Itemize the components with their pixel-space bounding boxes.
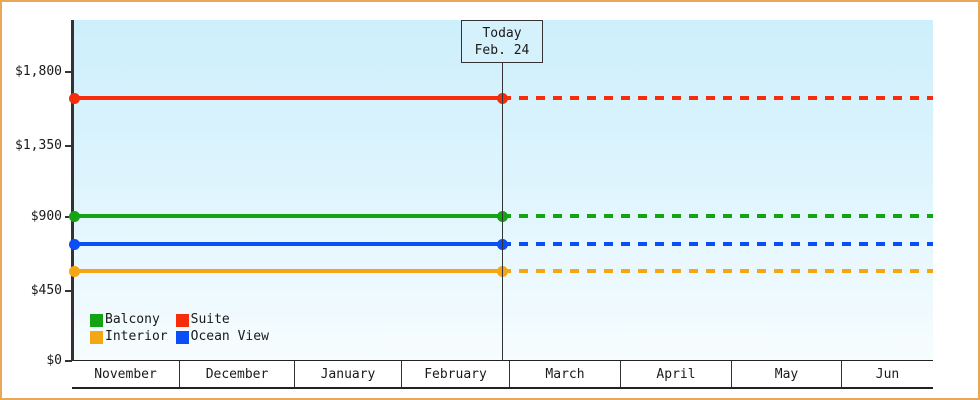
legend-swatch-icon bbox=[176, 331, 189, 344]
x-axis-month-cell[interactable]: April bbox=[621, 361, 732, 387]
series-line-actual bbox=[74, 242, 502, 246]
y-axis-tick bbox=[65, 71, 73, 73]
legend: BalconySuiteInteriorOcean View bbox=[90, 313, 269, 344]
x-axis-month-cell[interactable]: November bbox=[72, 361, 180, 387]
y-axis-label: $450 bbox=[2, 284, 62, 297]
legend-item[interactable]: Ocean View bbox=[176, 330, 269, 344]
legend-label: Ocean View bbox=[191, 330, 269, 344]
series-line-actual bbox=[74, 269, 502, 273]
series-marker-start bbox=[69, 211, 80, 222]
series-line-forecast bbox=[502, 96, 933, 100]
legend-label: Balcony bbox=[105, 313, 160, 327]
x-axis-month-band: NovemberDecemberJanuaryFebruaryMarchApri… bbox=[72, 361, 933, 389]
legend-item[interactable]: Balcony bbox=[90, 313, 168, 327]
y-axis-tick bbox=[65, 145, 73, 147]
x-axis-month-cell[interactable]: Jun bbox=[842, 361, 933, 387]
legend-item[interactable]: Suite bbox=[176, 313, 269, 327]
series-line-forecast bbox=[502, 269, 933, 273]
series-line-actual bbox=[74, 214, 502, 218]
today-vertical-line bbox=[502, 62, 503, 361]
legend-swatch-icon bbox=[90, 331, 103, 344]
legend-label: Interior bbox=[105, 330, 168, 344]
legend-item[interactable]: Interior bbox=[90, 330, 168, 344]
y-axis-label: $0 bbox=[2, 354, 62, 367]
legend-swatch-icon bbox=[90, 314, 103, 327]
series-marker-start bbox=[69, 266, 80, 277]
plot-area bbox=[74, 20, 933, 361]
x-axis-month-cell[interactable]: May bbox=[732, 361, 842, 387]
series-line-actual bbox=[74, 96, 502, 100]
series-marker-start bbox=[69, 93, 80, 104]
series-marker-start bbox=[69, 239, 80, 250]
legend-label: Suite bbox=[191, 313, 230, 327]
y-axis-label: $900 bbox=[2, 210, 62, 223]
legend-swatch-icon bbox=[176, 314, 189, 327]
today-date: Feb. 24 bbox=[462, 42, 542, 59]
x-axis-month-cell[interactable]: February bbox=[402, 361, 510, 387]
today-annotation-box: Today Feb. 24 bbox=[461, 20, 543, 63]
price-forecast-chart: $1,800$1,350$900$450$0 Today Feb. 24 Bal… bbox=[0, 0, 980, 400]
y-axis-label: $1,800 bbox=[2, 65, 62, 78]
x-axis-month-cell[interactable]: December bbox=[180, 361, 295, 387]
series-line-forecast bbox=[502, 242, 933, 246]
series-line-forecast bbox=[502, 214, 933, 218]
x-axis-month-cell[interactable]: March bbox=[510, 361, 621, 387]
x-axis-month-cell[interactable]: January bbox=[295, 361, 402, 387]
y-axis-tick bbox=[65, 290, 73, 292]
y-axis-label: $1,350 bbox=[2, 139, 62, 152]
today-label: Today bbox=[462, 25, 542, 42]
